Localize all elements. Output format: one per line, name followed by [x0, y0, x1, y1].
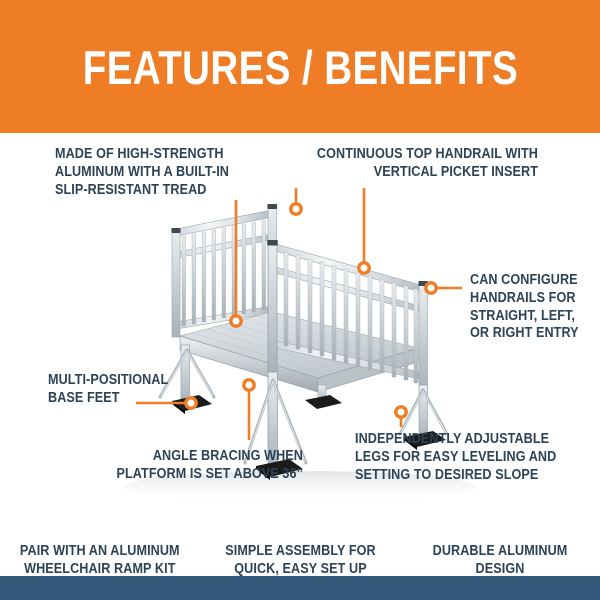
- callout-angle-bracing: ANGLE BRACING WHEN PLATFORM IS SET ABOVE…: [81, 448, 303, 484]
- callout-dot-bracing: [244, 380, 254, 390]
- page-title: FEATURES / BENEFITS: [82, 44, 517, 91]
- callout-dot-handrail-a: [291, 204, 301, 214]
- callout-dot-configure: [426, 283, 436, 293]
- bottom-benefit-text: PAIR WITH AN ALUMINUM WHEELCHAIR RAMP KI…: [20, 542, 180, 578]
- callout-continuous-top-handrail: CONTINUOUS TOP HANDRAIL WITH VERTICAL PI…: [312, 146, 538, 182]
- footer-bar: [0, 576, 600, 600]
- callout-multi-positional-base-feet: MULTI-POSITIONAL BASE FEET: [48, 372, 187, 408]
- callout-dot-handrail-b: [359, 263, 369, 273]
- callout-dot-legs: [396, 407, 406, 417]
- callout-independently-adjustable-legs: INDEPENDENTLY ADJUSTABLE LEGS FOR EASY L…: [355, 431, 559, 484]
- header-banner: FEATURES / BENEFITS: [0, 0, 600, 133]
- callout-dot-basefeet: [186, 398, 196, 408]
- infographic-page: FEATURES / BENEFITS: [0, 0, 600, 600]
- callout-can-configure-handrails: CAN CONFIGURE HANDRAILS FOR STRAIGHT, LE…: [470, 272, 579, 343]
- callout-made-of-high-strength-aluminum: MADE OF HIGH-STRENGTH ALUMINUM WITH A BU…: [55, 146, 242, 199]
- bottom-benefit-text: SIMPLE ASSEMBLY FOR QUICK, EASY SET UP: [225, 542, 375, 578]
- callout-dot-tread: [231, 316, 241, 326]
